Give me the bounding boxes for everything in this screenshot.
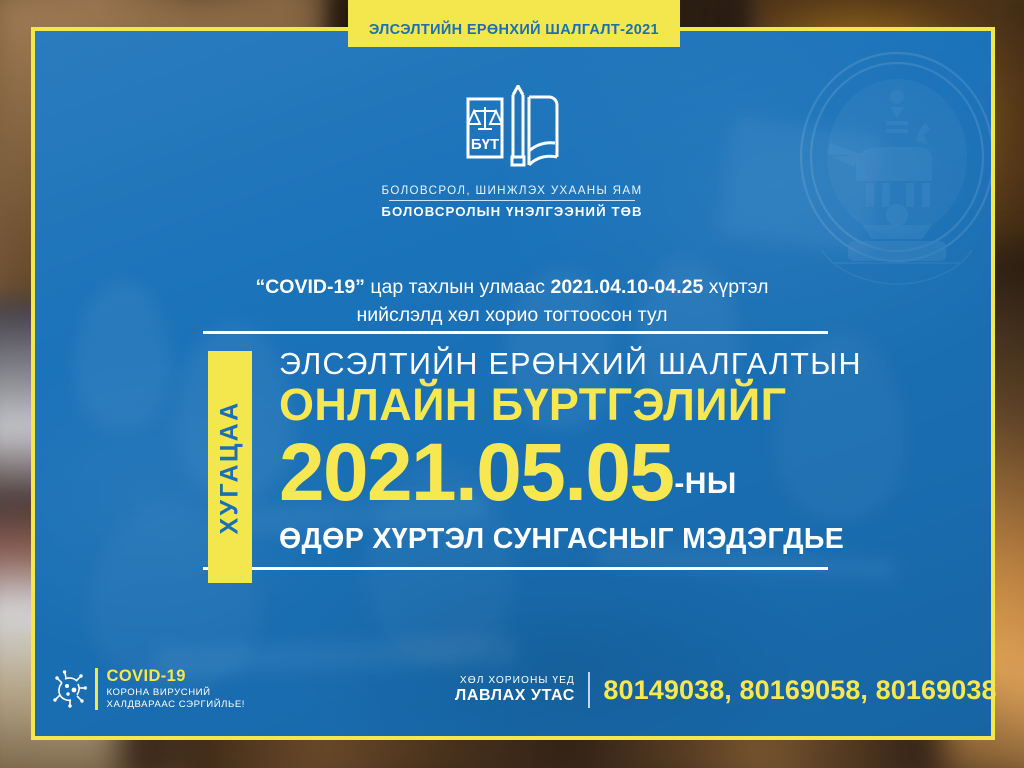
hotline-block: ХӨЛ ХОРИОНЫ ҮЕД ЛАВЛАХ УТАС 80149038, 80… [455,672,997,708]
lead-line-1: “COVID-19” цар тахлын улмаас 2021.04.10-… [0,274,1024,302]
covid-badge-title: COVID-19 [107,667,246,685]
headline-line-2: ОНЛАЙН БҮРТГЭЛИЙГ [279,380,828,430]
headline-line-1: ЭЛСЭЛТИЙН ЕРӨНХИЙ ШАЛГАЛТЫН [279,349,828,380]
headline-date-row: 2021.05.05-НЫ [279,432,828,514]
covid-quote: “COVID-19” [255,276,364,298]
covid-prevention-badge: COVID-19 КОРОНА ВИРУСНИЙ ХАЛДВАРААС СЭРГ… [53,667,245,711]
ministry-logo: БҮТ БОЛОВСРОЛ, ШИНЖЛЭХ УХААНЫ ЯАМ [0,85,1024,219]
coronavirus-icon [53,670,89,708]
duration-vertical-label: ХУГАЦАА [216,400,245,534]
covid-badge-line-1: КОРОНА ВИРУСНИЙ [107,688,246,699]
lockdown-dates: 2021.04.10-04.25 [550,276,703,298]
logo-divider [389,200,635,202]
covid-badge-divider [95,668,98,710]
but-scales-pencil-book-icon: БҮТ [464,85,560,177]
duration-vertical-tab: ХУГАЦАА [208,351,252,583]
lead-paragraph: “COVID-19” цар тахлын улмаас 2021.04.10-… [0,274,1024,329]
lead-mid-2: хүртэл [703,276,768,298]
deadline-date: 2021.05.05 [279,427,673,518]
top-banner-label: ЭЛСЭЛТИЙН ЕРӨНХИЙ ШАЛГАЛТ-2021 [369,22,659,38]
logo-center-line: БОЛОВСРОЛЫН ҮНЭЛГЭЭНИЙ ТӨВ [381,204,642,219]
hotline-divider [588,672,591,708]
top-banner-tab: ЭЛСЭЛТИЙН ЕРӨНХИЙ ШАЛГАЛТ-2021 [348,0,680,47]
poster-canvas: ЭЛСЭЛТИЙН ЕРӨНХИЙ ШАЛГАЛТ-2021 БҮТ [0,0,1024,768]
headline-line-4: ӨДӨР ХҮРТЭЛ СУНГАСНЫГ МЭДЭГДЬЕ [279,525,828,554]
headline-bottom-rule [203,567,828,570]
hotline-label-small: ХӨЛ ХОРИОНЫ ҮЕД [455,675,575,686]
deadline-date-suffix: -НЫ [674,467,736,500]
covid-badge-line-2: ХАЛДВАРААС СЭРГИЙЛЬЕ! [107,700,246,711]
hotline-numbers: 80149038, 80169058, 80169038 [603,675,996,706]
lead-mid-1: цар тахлын улмаас [365,276,551,298]
headline-block: ХУГАЦАА ЭЛСЭЛТИЙН ЕРӨНХИЙ ШАЛГАЛТЫН ОНЛА… [203,331,828,570]
logo-ministry-line: БОЛОВСРОЛ, ШИНЖЛЭХ УХААНЫ ЯАМ [382,184,643,197]
hotline-label-big: ЛАВЛАХ УТАС [455,687,575,705]
lead-line-2: нийслэлд хөл хорио тогтоосон тул [0,302,1024,330]
svg-text:БҮТ: БҮТ [471,136,499,153]
